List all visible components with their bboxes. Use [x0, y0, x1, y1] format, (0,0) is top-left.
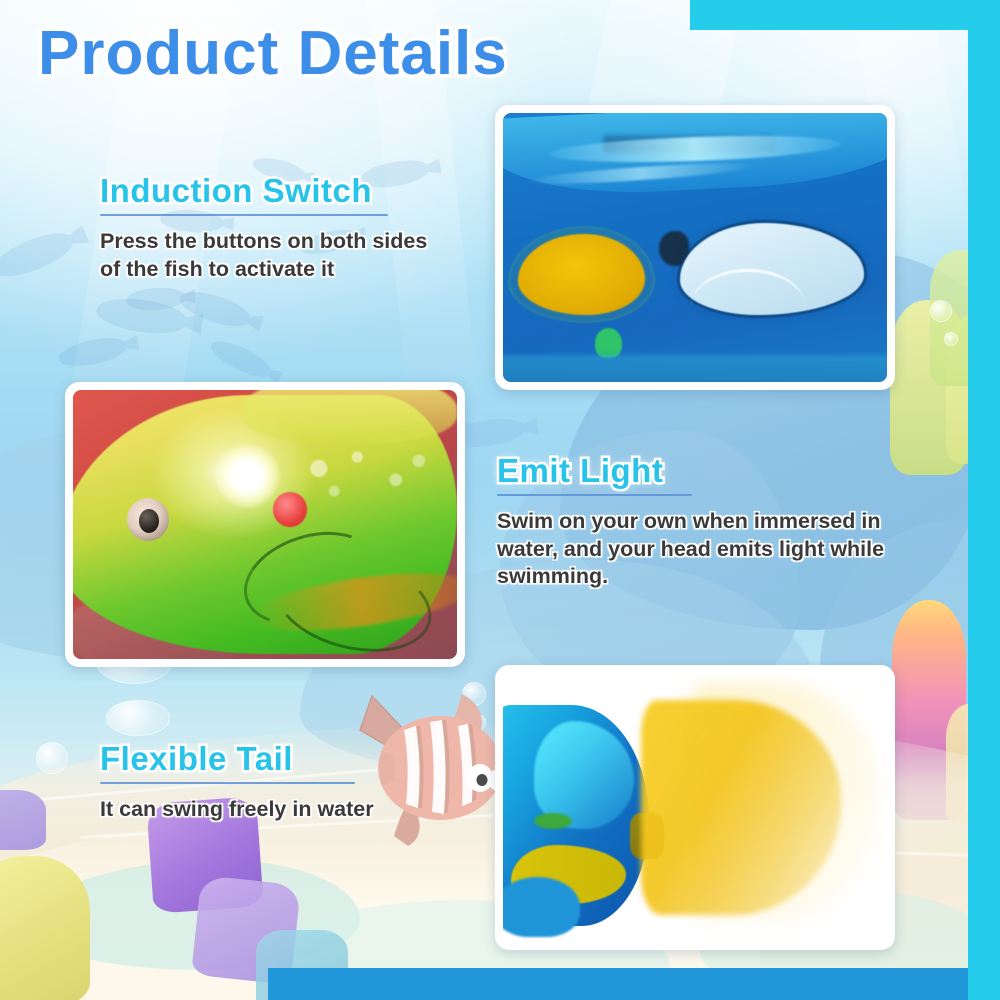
- bubble: [36, 742, 68, 774]
- feature-divider: [100, 782, 355, 784]
- border-right-accent: [968, 0, 1000, 1000]
- border-top-accent: [690, 0, 1000, 30]
- feature-heading-induction-switch: Induction Switch: [100, 172, 450, 210]
- border-bottom-accent: [268, 968, 1000, 1000]
- feature-induction-switch: Induction Switch Press the buttons on bo…: [100, 172, 450, 283]
- feature-emit-light: Emit Light Swim on your own when immerse…: [497, 452, 917, 591]
- photo-flexible-tail: [495, 665, 895, 950]
- feature-divider: [497, 494, 692, 496]
- page-title: Product Details: [38, 18, 508, 89]
- bubble: [106, 700, 170, 736]
- feature-body-induction-switch: Press the buttons on both sides of the f…: [100, 228, 450, 283]
- feature-heading-flexible-tail: Flexible Tail: [100, 740, 470, 778]
- feature-flexible-tail: Flexible Tail It can swing freely in wat…: [100, 740, 470, 824]
- product-details-infographic: Product Details Induction Switch Press t…: [0, 0, 1000, 1000]
- bubble: [930, 300, 952, 322]
- coral-yellow-left: [0, 856, 130, 1000]
- feature-body-emit-light: Swim on your own when immersed in water,…: [497, 508, 917, 591]
- feature-body-flexible-tail: It can swing freely in water: [100, 796, 470, 824]
- photo-emit-light: [65, 382, 465, 667]
- background-fish-silhouette: [125, 286, 186, 312]
- feature-divider: [100, 214, 388, 216]
- feature-heading-emit-light: Emit Light: [497, 452, 917, 490]
- photo-induction-switch: [495, 105, 895, 390]
- bubble: [944, 332, 958, 346]
